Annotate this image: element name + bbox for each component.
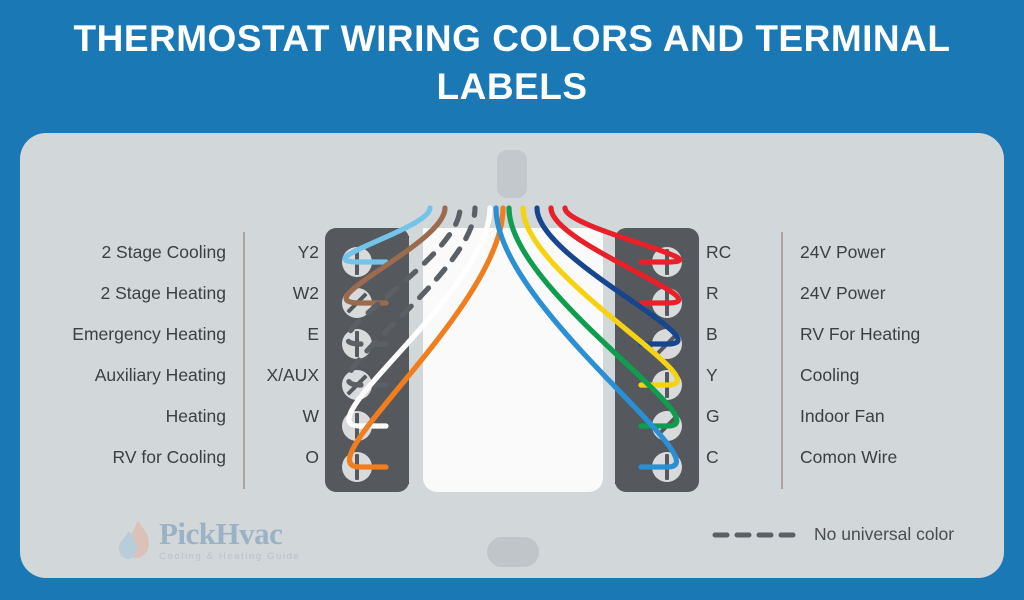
infographic-root: THERMOSTAT WIRING COLORS AND TERMINAL LA… <box>0 0 1024 600</box>
wire-diagram <box>0 0 1024 600</box>
legend: No universal color <box>712 524 954 545</box>
pickhvac-logo: PickHvac Cooling & Heating Guide <box>118 512 308 568</box>
wire-rc <box>565 208 680 262</box>
legend-label: No universal color <box>814 524 954 545</box>
logo-name: PickHvac <box>159 518 300 549</box>
wire-y2 <box>345 208 430 262</box>
logo-tagline: Cooling & Heating Guide <box>159 552 300 562</box>
flame-droplet-icon <box>118 519 152 561</box>
wire-x-aux <box>348 208 475 385</box>
dashed-line-icon <box>712 529 800 541</box>
logo-text-group: PickHvac Cooling & Heating Guide <box>159 518 300 562</box>
